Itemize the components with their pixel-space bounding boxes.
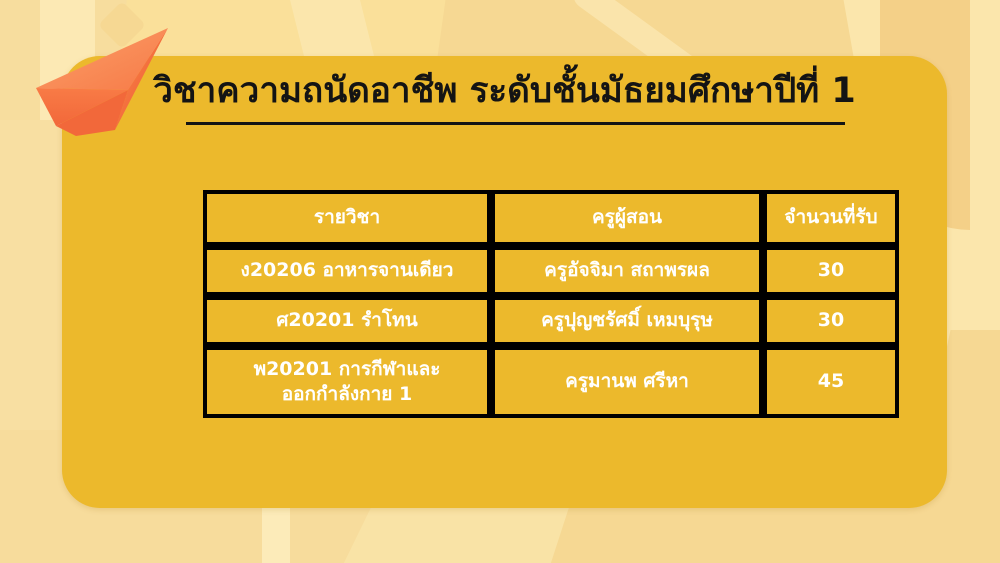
header-cell-teacher: ครูผู้สอน bbox=[491, 190, 763, 246]
cell-subject: ง20206 อาหารจานเดียว bbox=[203, 246, 491, 296]
cell-subject: พ20201 การกีฬาและ ออกกำลังกาย 1 bbox=[203, 346, 491, 418]
cell-teacher: ครูอัจจิมา สถาพรผล bbox=[491, 246, 763, 296]
paper-airplane-icon bbox=[18, 18, 188, 143]
header-cell-capacity: จำนวนที่รับ bbox=[763, 190, 899, 246]
title-underline bbox=[186, 122, 845, 125]
cell-capacity: 45 bbox=[763, 346, 899, 418]
cell-subject: ศ20201 รำโทน bbox=[203, 296, 491, 346]
cell-capacity: 30 bbox=[763, 296, 899, 346]
cell-teacher: ครูมานพ ศรีหา bbox=[491, 346, 763, 418]
subject-table-container: รายวิชา ครูผู้สอน จำนวนที่รับ ง20206 อาห… bbox=[203, 190, 899, 418]
slide-canvas: วิชาความถนัดอาชีพ ระดับชั้นมัธยมศึกษาปีท… bbox=[0, 0, 1000, 563]
table-row: ง20206 อาหารจานเดียว ครูอัจจิมา สถาพรผล … bbox=[203, 246, 899, 296]
header-cell-subject: รายวิชา bbox=[203, 190, 491, 246]
cell-teacher: ครูปุญชรัศมิ์ เหมบุรุษ bbox=[491, 296, 763, 346]
page-title: วิชาความถนัดอาชีพ ระดับชั้นมัธยมศึกษาปีท… bbox=[62, 70, 947, 114]
cell-subject-line1: พ20201 การกีฬาและ bbox=[213, 357, 481, 382]
table-header-row: รายวิชา ครูผู้สอน จำนวนที่รับ bbox=[203, 190, 899, 246]
table-row: ศ20201 รำโทน ครูปุญชรัศมิ์ เหมบุรุษ 30 bbox=[203, 296, 899, 346]
table-row: พ20201 การกีฬาและ ออกกำลังกาย 1 ครูมานพ … bbox=[203, 346, 899, 418]
subject-table: รายวิชา ครูผู้สอน จำนวนที่รับ ง20206 อาห… bbox=[203, 190, 899, 418]
bg-shape-12 bbox=[262, 500, 290, 563]
cell-subject-line2: ออกกำลังกาย 1 bbox=[213, 382, 481, 407]
cell-capacity: 30 bbox=[763, 246, 899, 296]
